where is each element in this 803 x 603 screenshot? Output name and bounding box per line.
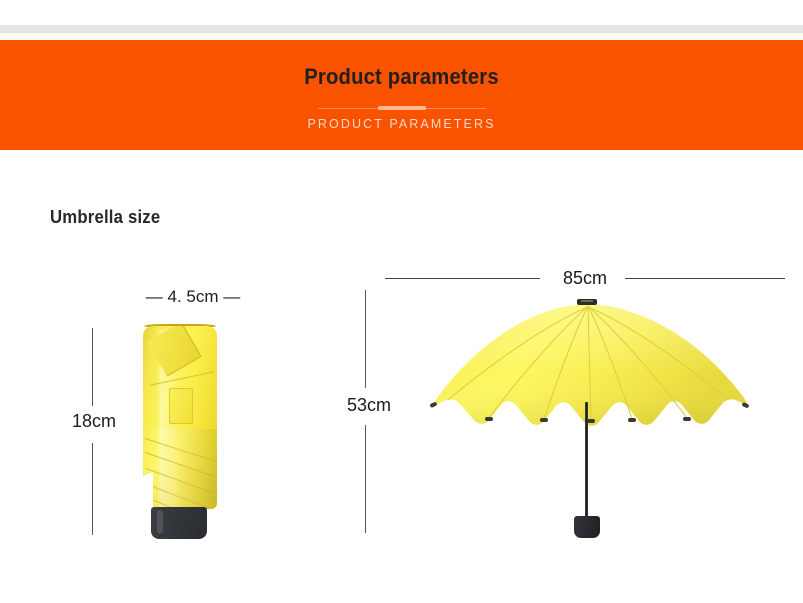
- banner-subtitle: PRODUCT PARAMETERS: [0, 117, 803, 131]
- product-parameters-banner: Product parameters PRODUCT PARAMETERS: [0, 40, 803, 150]
- folded-flap: [147, 326, 202, 377]
- folded-umbrella-cap: [151, 507, 207, 539]
- folded-umbrella-body: [143, 326, 217, 509]
- divider-center-accent: [378, 106, 426, 110]
- folded-height-line-top: [92, 328, 93, 406]
- folded-wrap-line: [147, 484, 211, 509]
- folded-height-dimension: 18cm: [58, 411, 130, 432]
- umbrella-canopy-svg: [388, 298, 788, 548]
- folded-width-dimension: — 4. 5cm —: [128, 287, 258, 307]
- open-umbrella-image: [388, 298, 788, 548]
- folded-cap-highlight: [157, 510, 163, 534]
- folded-lower-shading: [145, 430, 217, 509]
- open-height-line-top: [365, 290, 366, 388]
- product-parameters-page: Product parameters PRODUCT PARAMETERS Um…: [0, 0, 803, 603]
- open-span-line-left: [385, 278, 540, 279]
- folded-taper-mask: [143, 472, 153, 509]
- umbrella-handle: [574, 516, 600, 538]
- folded-wrap-line: [145, 438, 217, 462]
- top-cream-strip: [0, 33, 803, 40]
- open-span-dimension: 85cm: [556, 267, 614, 289]
- folded-umbrella-image: [140, 324, 222, 539]
- umbrella-shaft: [585, 402, 588, 520]
- umbrella-finial: [577, 299, 597, 305]
- folded-height-line-bottom: [92, 443, 93, 535]
- folded-wrap-line: [146, 468, 214, 494]
- open-height-line-bottom: [365, 425, 366, 533]
- open-span-line-right: [625, 278, 785, 279]
- banner-divider: [0, 104, 803, 114]
- open-span-dimension-group: 85cm: [385, 267, 785, 289]
- umbrella-finial-inner: [581, 300, 593, 302]
- page-title: Umbrella size: [50, 207, 160, 228]
- banner-title: Product parameters: [32, 64, 771, 90]
- top-gray-strip: [0, 25, 803, 33]
- folded-tab: [169, 388, 193, 424]
- folded-wrap-line: [145, 452, 215, 477]
